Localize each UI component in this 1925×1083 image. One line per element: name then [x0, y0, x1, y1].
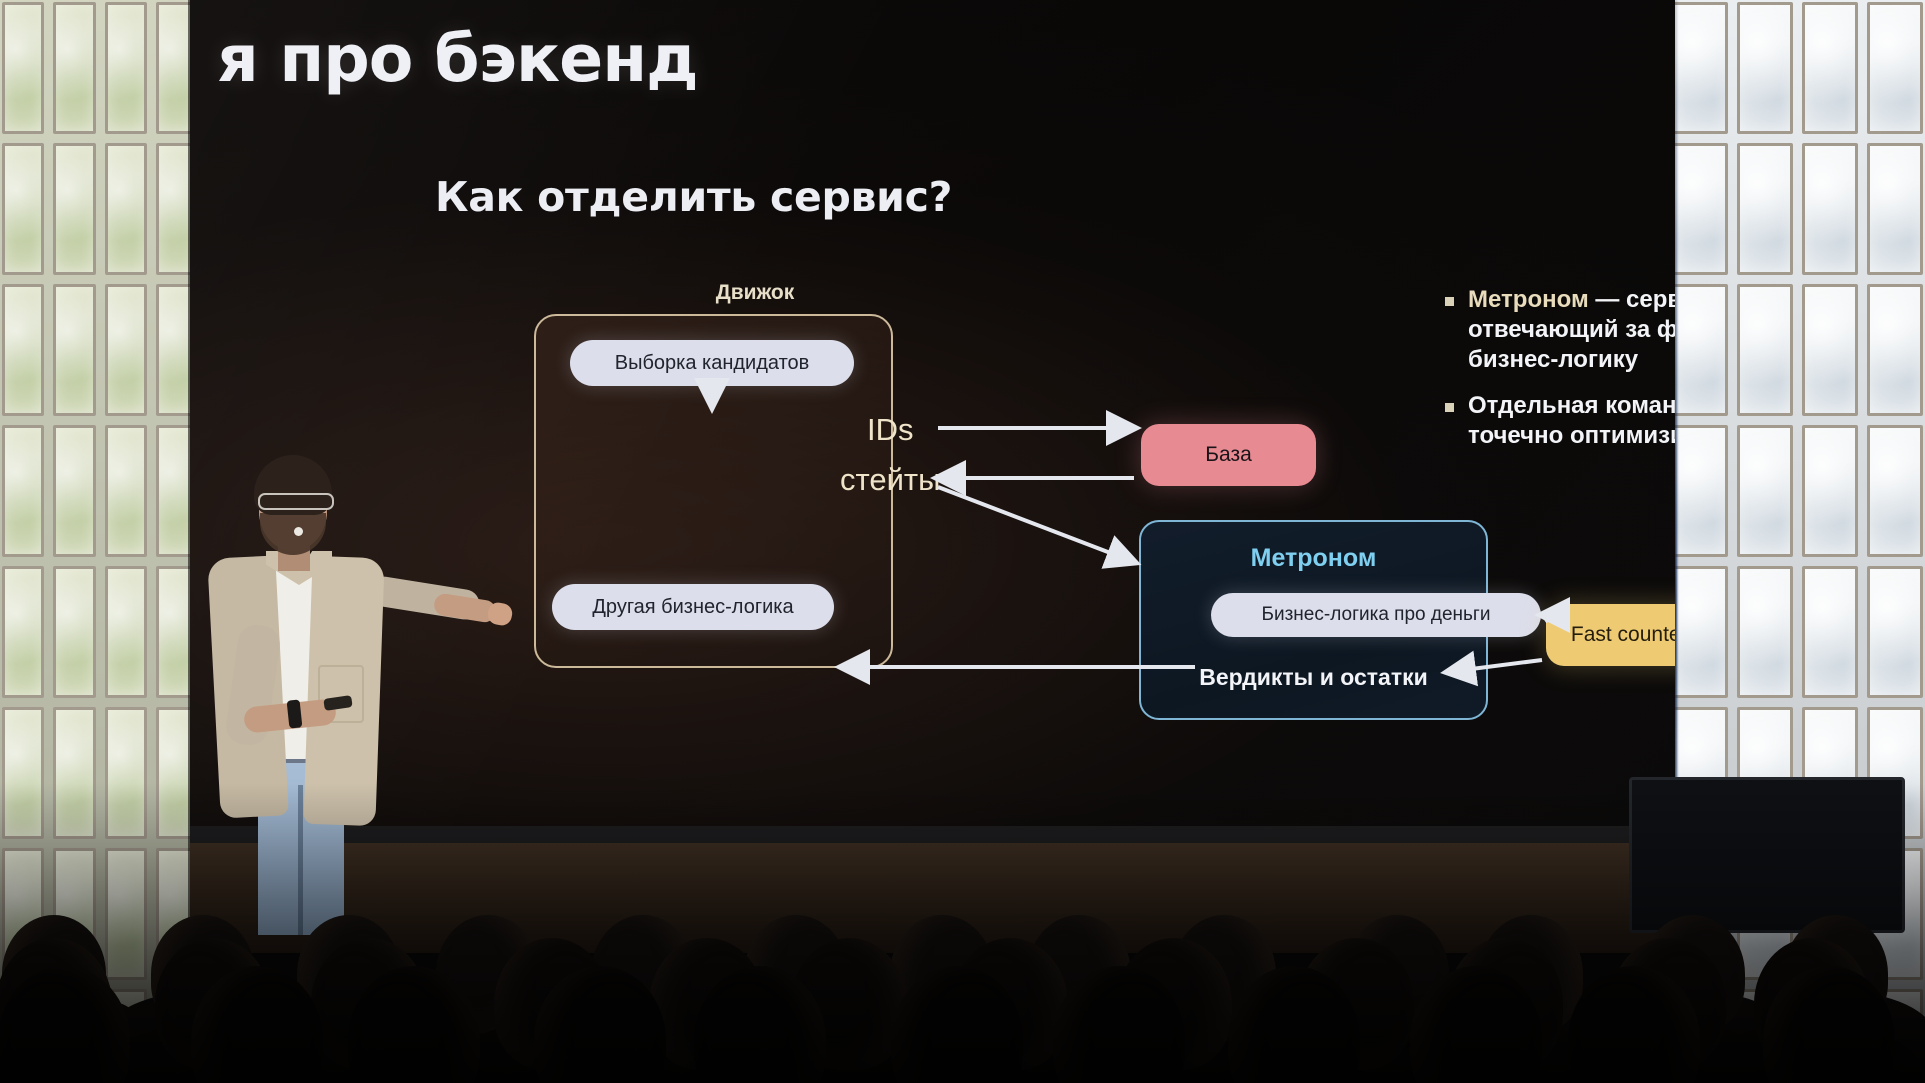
- speaker-beard: [260, 513, 326, 555]
- deck-title: я про бэкенд: [217, 22, 698, 97]
- window-pane: [1672, 2, 1728, 134]
- window-pane: [2, 143, 44, 275]
- node-database: База: [1141, 424, 1316, 486]
- window-pane: [53, 425, 95, 557]
- node-other-business-logic: Другая бизнес-логика: [552, 584, 834, 630]
- speaker-headset-mic: [294, 527, 303, 536]
- window-pane: [1672, 284, 1728, 416]
- metronome-verdicts-label: Вердикты и остатки: [1141, 664, 1486, 691]
- window-pane: [2, 284, 44, 416]
- window-pane: [105, 566, 147, 698]
- window-pane: [1867, 566, 1923, 698]
- window-pane: [1672, 143, 1728, 275]
- bullet-list: Метроном — сервис, отвечающий за финансо…: [1445, 285, 1675, 467]
- window-pane: [1802, 143, 1858, 275]
- speaker-pointing-hand: [486, 601, 514, 628]
- window-pane: [1802, 2, 1858, 134]
- slide-title: Как отделить сервис?: [435, 173, 952, 221]
- node-money-business-logic: Бизнес-логика про деньги: [1211, 593, 1541, 637]
- window-pane: [1672, 566, 1728, 698]
- list-item: Отдельная команда, можно точечно оптимиз…: [1445, 391, 1675, 451]
- window-pane: [1737, 143, 1793, 275]
- window-pane: [2, 566, 44, 698]
- window-pane: [2, 2, 44, 134]
- window-pane: [53, 284, 95, 416]
- window-pane: [53, 566, 95, 698]
- window-pane: [105, 425, 147, 557]
- engine-group-label: Движок: [655, 281, 855, 305]
- speaker-wristwatch: [287, 699, 303, 728]
- flow-label-states: стейты: [840, 462, 940, 498]
- bullet-text: Отдельная команда, можно точечно оптимиз…: [1468, 391, 1675, 451]
- window-pane: [1867, 143, 1923, 275]
- bullet-square-icon: [1445, 403, 1454, 412]
- bullet-text: Метроном — сервис, отвечающий за финансо…: [1468, 285, 1675, 375]
- bullet-highlight: Метроном: [1468, 286, 1589, 313]
- window-pane: [1867, 425, 1923, 557]
- audience-head: [0, 966, 130, 1083]
- window-pane: [105, 143, 147, 275]
- presentation-photo: я про бэкенд Как отделить сервис? Движок…: [0, 0, 1925, 1083]
- window-pane: [1867, 2, 1923, 134]
- arrow-states-to-metronome: [938, 487, 1134, 562]
- speaker-pointing-forearm: [433, 592, 498, 623]
- window-pane: [1737, 284, 1793, 416]
- window-pane: [1737, 2, 1793, 134]
- window-pane: [1867, 284, 1923, 416]
- window-pane: [1802, 425, 1858, 557]
- node-fast-counters: Fast counters: [1546, 604, 1675, 666]
- node-candidates-selection: Выборка кандидатов: [570, 340, 854, 386]
- bullet-square-icon: [1445, 297, 1454, 306]
- window-pane: [1737, 425, 1793, 557]
- window-pane: [1737, 566, 1793, 698]
- flow-label-ids: IDs: [867, 412, 914, 448]
- metronome-title: Метроном: [1141, 544, 1486, 573]
- audience-silhouettes: [0, 753, 1925, 1083]
- window-pane: [1802, 284, 1858, 416]
- list-item: Метроном — сервис, отвечающий за финансо…: [1445, 285, 1675, 375]
- window-pane: [53, 143, 95, 275]
- window-pane: [105, 284, 147, 416]
- window-pane: [105, 2, 147, 134]
- window-pane: [2, 425, 44, 557]
- window-pane: [53, 2, 95, 134]
- window-pane: [1802, 566, 1858, 698]
- window-pane: [1672, 425, 1728, 557]
- speaker-glasses-icon: [258, 493, 334, 510]
